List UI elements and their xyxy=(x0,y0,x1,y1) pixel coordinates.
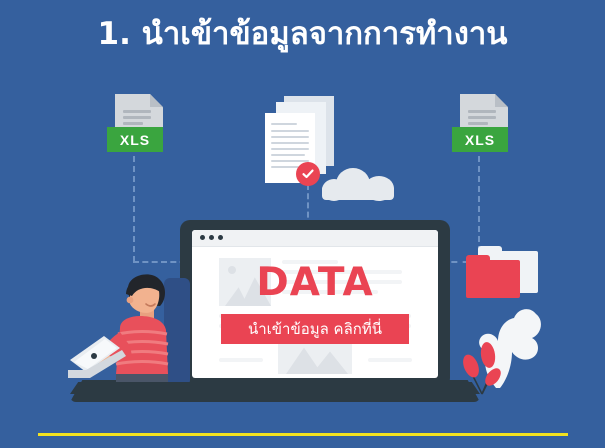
text-line xyxy=(271,130,309,132)
window-dot-icon xyxy=(200,235,205,240)
text-line xyxy=(468,116,496,119)
import-data-cta-button[interactable]: นำเข้าข้อมูล คลิกที่นี่ xyxy=(221,314,409,344)
window-dot-icon xyxy=(209,235,214,240)
text-line xyxy=(271,148,309,150)
xls-label: XLS xyxy=(107,127,163,152)
check-circle-icon xyxy=(296,162,320,186)
browser-title-bar xyxy=(192,230,438,247)
slide-canvas: 1. นำเข้าข้อมูลจากการทำงาน XLS XLS xyxy=(0,0,605,448)
xls-file-icon-left[interactable]: XLS xyxy=(107,94,163,160)
mountain-shape xyxy=(312,350,348,374)
text-line xyxy=(468,110,496,113)
text-line xyxy=(271,142,309,144)
desk-surface xyxy=(70,382,480,394)
text-line xyxy=(368,358,412,362)
page-fold-corner-icon xyxy=(150,94,163,107)
cloud-base xyxy=(322,185,394,200)
text-line xyxy=(271,136,309,138)
window-dot-icon xyxy=(218,235,223,240)
text-line xyxy=(271,123,297,125)
xls-file-icon-right[interactable]: XLS xyxy=(452,94,508,160)
browser-heading: DATA xyxy=(192,260,438,305)
page-fold-corner-icon xyxy=(495,94,508,107)
page-title: 1. นำเข้าข้อมูลจากการทำงาน xyxy=(0,14,605,54)
text-line xyxy=(468,122,488,125)
laptop-screen: DATA นำเข้าข้อมูล คลิกที่นี่ xyxy=(192,230,438,378)
footer-divider xyxy=(38,433,568,436)
text-line xyxy=(271,166,299,168)
text-line xyxy=(123,122,143,125)
text-line xyxy=(271,154,305,156)
text-line xyxy=(219,358,263,362)
cloud-icon xyxy=(322,166,394,200)
text-line xyxy=(123,110,151,113)
xls-label: XLS xyxy=(452,127,508,152)
text-line xyxy=(123,116,151,119)
